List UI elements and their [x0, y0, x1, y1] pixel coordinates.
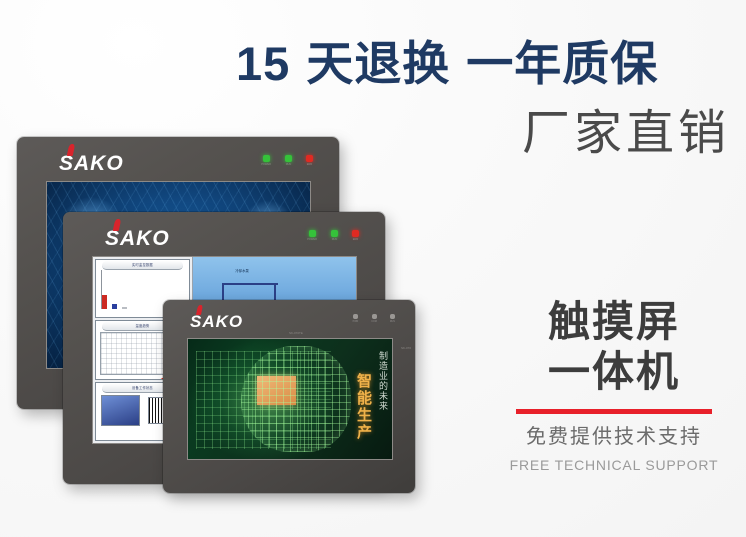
led-power: POWER [307, 230, 317, 242]
led-error-label: ERR [307, 164, 312, 167]
support-text-cn: 免费提供技术支持 [498, 425, 730, 449]
led-run-label: RUN [332, 239, 338, 242]
hmi-card-title: 实时监控数据 [102, 261, 183, 270]
led-run: RUN [331, 230, 338, 242]
hmi-thumbnail [101, 395, 140, 427]
led-power-label: POWER [307, 239, 317, 242]
hmi-panel-front: SAKO PWR COM RUN SK-070TE SK-070 制造业的 [163, 300, 415, 493]
headline-return-policy: 天退换 [306, 37, 450, 90]
hmi-label-pump: 冷却水泵 [235, 270, 249, 273]
screen-text-smart: 智能生产 [356, 373, 371, 441]
led-power-label: POWER [261, 164, 271, 167]
led-run-label: RUN [286, 164, 292, 167]
led-power: PWR [353, 314, 359, 323]
panel-model-label: SK-070TE [289, 332, 303, 335]
led-error: ERR [306, 155, 313, 167]
headline-number: 15 [236, 37, 290, 90]
panel-screen-front: 制造业的未来 智能生产 [187, 338, 393, 460]
product-name-line2: 一体机 [498, 348, 730, 396]
led-run: RUN [285, 155, 292, 167]
headline-warranty: 一年质保 [466, 37, 658, 90]
led-power: POWER [261, 155, 271, 167]
advertisement-banner: 15天退换一年质保 厂家直销 SAKO POWER RUN ERR [0, 0, 746, 537]
brand-logo: SAKO [105, 227, 170, 251]
led-run: RUN [390, 314, 395, 323]
product-callout: 触摸屏 一体机 免费提供技术支持 FREE TECHNICAL SUPPORT [498, 298, 730, 473]
led-error: ERR [352, 230, 359, 242]
led-indicator-group: POWER RUN ERR [261, 155, 313, 167]
wireframe-head-graphic [241, 346, 351, 452]
panel-side-label: SK-070 [401, 347, 411, 350]
product-name-line1: 触摸屏 [498, 298, 730, 346]
led-com-label: COM [371, 321, 377, 323]
led-power-label: PWR [353, 321, 359, 323]
brand-logo: SAKO [59, 152, 124, 176]
brand-logo: SAKO [190, 312, 243, 332]
led-com: COM [371, 314, 377, 323]
support-text-en: FREE TECHNICAL SUPPORT [498, 457, 730, 473]
red-divider [516, 409, 712, 414]
led-indicator-group: POWER RUN ERR [307, 230, 359, 242]
led-error-label: ERR [353, 239, 358, 242]
led-run-label: RUN [390, 321, 395, 323]
led-indicator-group: PWR COM RUN [353, 314, 395, 323]
headline-primary: 15天退换一年质保 [236, 36, 736, 92]
screen-text-future: 制造业的未来 [378, 351, 387, 411]
smart-manufacturing-graphic: 制造业的未来 智能生产 [188, 339, 392, 459]
